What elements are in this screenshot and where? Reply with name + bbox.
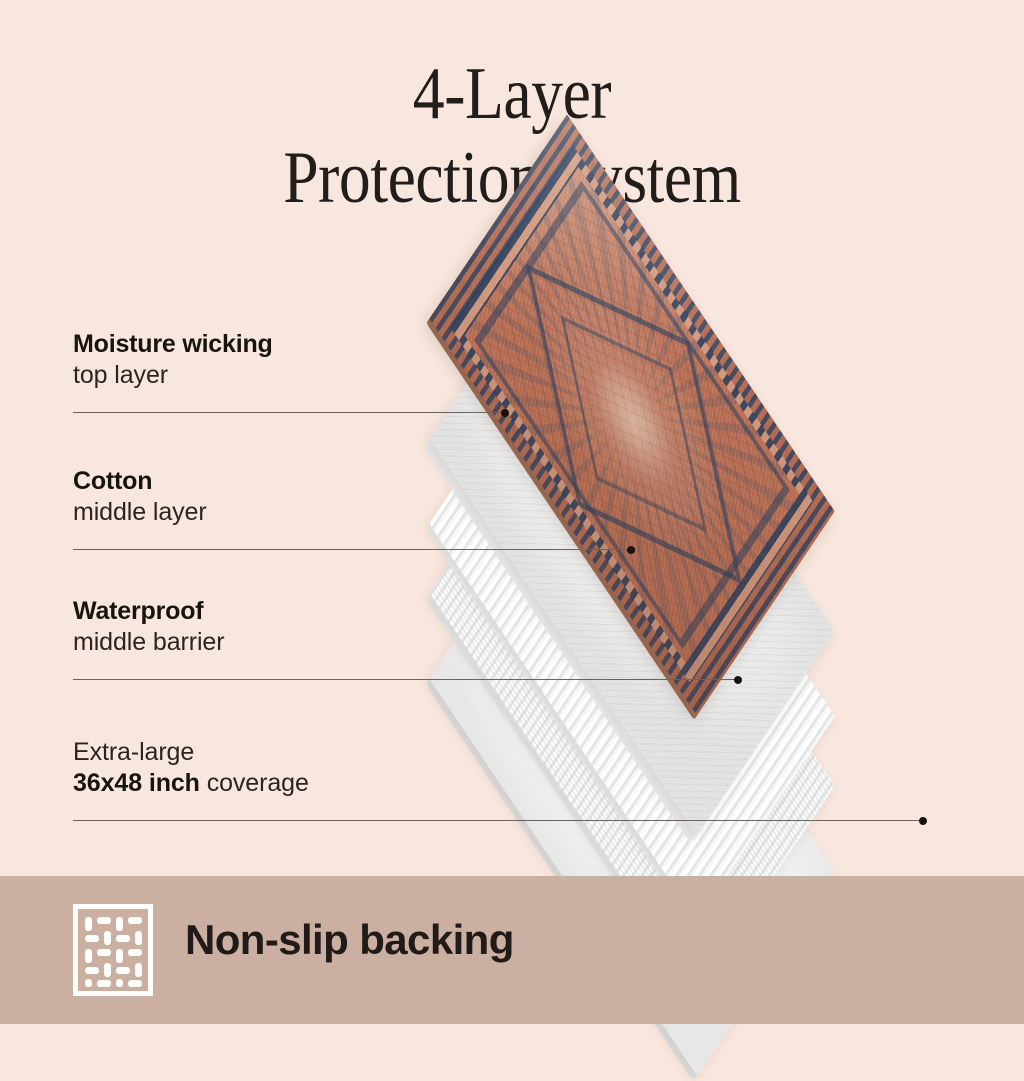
leader-line-coverage [73, 820, 923, 821]
callout-sub-cotton: middle layer [73, 497, 207, 528]
callout-moisture-wicking: Moisture wicking top layer [73, 329, 273, 391]
leader-line-cotton [73, 549, 631, 550]
callout-waterproof: Waterproof middle barrier [73, 596, 224, 658]
non-slip-banner: Non-slip backing [0, 876, 1024, 1024]
leader-dot-waterproof [734, 676, 742, 684]
callout-sub-moisture-wicking: top layer [73, 360, 273, 391]
leader-dot-cotton [627, 546, 635, 554]
callout-title-coverage: Extra-large [73, 737, 309, 768]
callout-coverage: Extra-large 36x48 inch coverage [73, 737, 309, 799]
leader-dot-coverage [919, 817, 927, 825]
non-slip-backing-label: Non-slip backing [185, 916, 514, 964]
callout-title-moisture-wicking: Moisture wicking [73, 329, 273, 360]
callout-sub-waterproof: middle barrier [73, 627, 224, 658]
callout-sub-coverage: 36x48 inch coverage [73, 768, 309, 799]
coverage-dimensions: 36x48 inch [73, 769, 200, 797]
infographic-canvas: 4-Layer Protection System [0, 0, 1024, 1024]
callout-title-cotton: Cotton [73, 466, 207, 497]
basket-weave-icon [73, 904, 153, 996]
leader-line-moisture-wicking [73, 412, 505, 413]
callout-cotton: Cotton middle layer [73, 466, 207, 528]
callout-title-waterproof: Waterproof [73, 596, 224, 627]
basket-weave-glyph [78, 909, 148, 991]
leader-line-waterproof [73, 679, 738, 680]
coverage-suffix: coverage [200, 769, 309, 797]
leader-dot-moisture-wicking [501, 409, 509, 417]
